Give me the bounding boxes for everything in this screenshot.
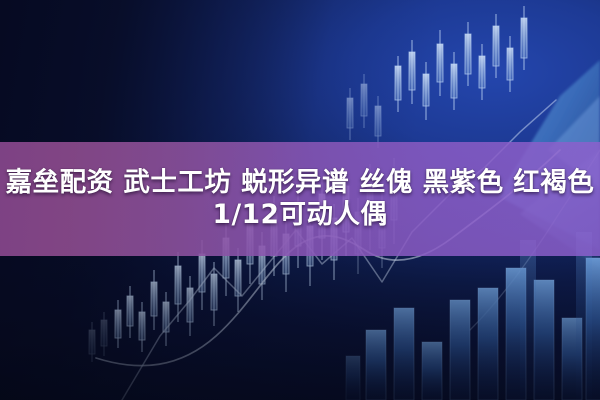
promo-banner-image: 嘉垒配资 武士工坊 蜕形异谱 丝傀 黑紫色 红褐色 1/12可动人偶 [0,0,600,400]
banner-title-line-1: 嘉垒配资 武士工坊 蜕形异谱 丝傀 黑紫色 红褐色 [6,168,595,198]
title-banner: 嘉垒配资 武士工坊 蜕形异谱 丝傀 黑紫色 红褐色 1/12可动人偶 [0,142,600,256]
banner-title-line-2: 1/12可动人偶 [213,200,388,230]
